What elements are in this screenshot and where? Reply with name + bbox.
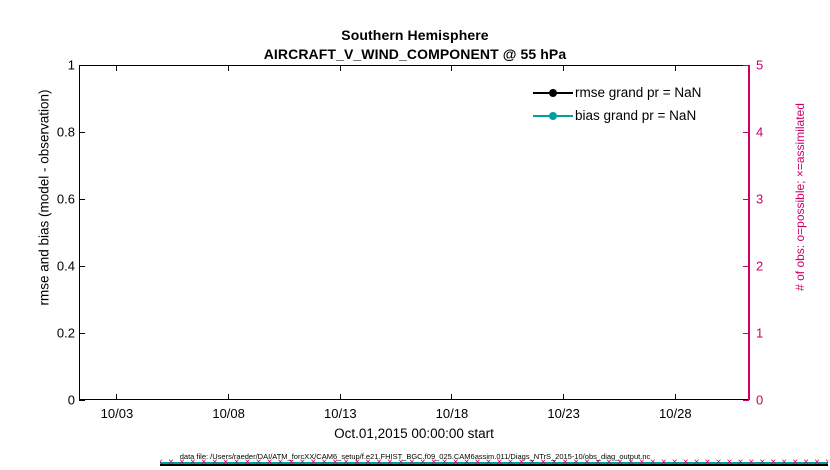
y-tick-left-mark (79, 333, 85, 334)
y-tick-right-mark (743, 333, 749, 334)
x-tick-mark (340, 394, 341, 400)
y-tick-left-label: 0.8 (15, 125, 75, 140)
y-tick-right-mark (743, 199, 749, 200)
chart-title: Southern Hemisphere AIRCRAFT_V_WIND_COMP… (0, 26, 830, 64)
y-tick-left-label: 0.4 (15, 259, 75, 274)
x-tick-mark-top (451, 65, 452, 71)
x-tick-label: 10/18 (412, 406, 492, 421)
y-tick-right-label: 0 (756, 393, 796, 408)
y-tick-left-mark (79, 132, 85, 133)
x-tick-mark-top (563, 65, 564, 71)
y-tick-right-mark (743, 132, 749, 133)
x-tick-mark (228, 394, 229, 400)
x-tick-label: 10/08 (189, 406, 269, 421)
legend-item-rmse: rmse grand pr = NaN (531, 81, 737, 104)
y-tick-left-mark (79, 199, 85, 200)
chart-root: Southern Hemisphere AIRCRAFT_V_WIND_COMP… (0, 0, 830, 470)
x-tick-mark (675, 394, 676, 400)
y-tick-left-label: 0.2 (15, 326, 75, 341)
y-tick-right-label: 2 (756, 259, 796, 274)
y-tick-right-label: 3 (756, 192, 796, 207)
x-tick-mark (116, 394, 117, 400)
legend-label-rmse: rmse grand pr = NaN (575, 85, 701, 100)
x-tick-mark-top (340, 65, 341, 71)
footer-data-file: data file: /Users/raeder/DAI/ATM_forcXX/… (0, 452, 830, 461)
legend-label-bias: bias grand pr = NaN (575, 108, 696, 123)
y-tick-right-mark (743, 400, 749, 401)
legend-item-bias: bias grand pr = NaN (531, 104, 737, 127)
x-tick-label: 10/23 (524, 406, 604, 421)
x-tick-mark-top (228, 65, 229, 71)
legend: rmse grand pr = NaN bias grand pr = NaN (531, 79, 737, 129)
legend-marker-rmse-icon (531, 85, 575, 101)
y-tick-left-mark (79, 65, 85, 66)
y-tick-right-label: 4 (756, 125, 796, 140)
y-tick-left-label: 0 (15, 393, 75, 408)
x-tick-label: 10/28 (635, 406, 715, 421)
legend-marker-bias-icon (531, 108, 575, 124)
y-tick-right-mark (743, 65, 749, 66)
x-tick-mark (451, 394, 452, 400)
right-axis-spine (748, 65, 750, 400)
x-axis-label: Oct.01,2015 00:00:00 start (79, 426, 749, 441)
y-tick-right-mark (743, 266, 749, 267)
y-tick-left-mark (79, 400, 85, 401)
title-line-1: Southern Hemisphere (0, 26, 830, 45)
y-tick-left-label: 1 (15, 58, 75, 73)
x-tick-label: 10/13 (300, 406, 380, 421)
y-tick-left-mark (79, 266, 85, 267)
x-tick-mark-top (675, 65, 676, 71)
y-tick-left-label: 0.6 (15, 192, 75, 207)
title-line-2: AIRCRAFT_V_WIND_COMPONENT @ 55 hPa (0, 45, 830, 64)
x-tick-label: 10/03 (77, 406, 157, 421)
x-tick-mark-top (116, 65, 117, 71)
y-tick-right-label: 5 (756, 58, 796, 73)
y-tick-right-label: 1 (756, 326, 796, 341)
x-tick-mark (563, 394, 564, 400)
